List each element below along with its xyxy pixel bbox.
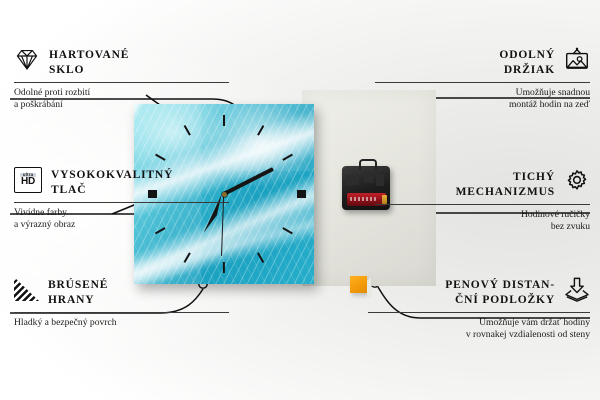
mechanism-hanger bbox=[359, 159, 377, 170]
clock-tick bbox=[297, 190, 306, 198]
feature-description: Hodinové ručičkybez zvuku bbox=[375, 209, 590, 233]
feature-title-line1: PENOVÝ DISTAN- bbox=[445, 279, 555, 291]
divider bbox=[375, 204, 590, 205]
feature-title: PENOVÝ DISTAN-ČNÍ PODLOŽKY bbox=[445, 278, 555, 307]
divider bbox=[14, 82, 229, 83]
feature-title-line1: BRÚSENÉ bbox=[48, 279, 108, 291]
picture-hanger-icon bbox=[564, 46, 590, 72]
feature-title-line2: ČNÍ PODLOŽKY bbox=[455, 294, 555, 306]
feature-header: ODOLNÝDRŽIAK bbox=[375, 48, 590, 77]
divider bbox=[368, 312, 590, 313]
feature-title: TICHÝMECHANIZMUS bbox=[456, 170, 555, 199]
divider bbox=[14, 312, 229, 313]
feature-header: HARTOVANÉSKLO bbox=[14, 48, 229, 77]
feature-brusene-hrany: BRÚSENÉHRANY Hladký a bezpečný povrch bbox=[14, 278, 229, 329]
feature-description: Hladký a bezpečný povrch bbox=[14, 317, 229, 329]
foam-spacer-pad bbox=[350, 276, 367, 293]
feature-header: BRÚSENÉHRANY bbox=[14, 278, 229, 307]
feature-desc-line2: a poškrábání bbox=[14, 99, 63, 110]
feature-title-line1: VYSOKOKVALITNÝ bbox=[51, 169, 173, 181]
feature-desc-line1: Umožňuje snadnou bbox=[516, 87, 590, 98]
battery-label bbox=[350, 197, 376, 201]
feature-hartovane-sklo: HARTOVANÉSKLO Odolné proti rozbitía pošk… bbox=[14, 48, 229, 111]
diagonal-stripes-icon bbox=[14, 277, 39, 301]
gear-icon bbox=[564, 168, 590, 194]
feature-desc-line2: montáž hodin na zeď bbox=[509, 99, 590, 110]
product-infographic: HARTOVANÉSKLO Odolné proti rozbitía pošk… bbox=[0, 0, 600, 400]
feature-title: ODOLNÝDRŽIAK bbox=[499, 48, 555, 77]
foam-spacer-icon bbox=[564, 276, 590, 302]
mechanism-slot bbox=[364, 175, 373, 183]
feature-odolny-drziak: ODOLNÝDRŽIAK Umožňuje snadnoumontáž hodi… bbox=[375, 48, 590, 111]
feature-desc-line1: Hladký a bezpečný povrch bbox=[14, 317, 117, 328]
feature-title-line2: SKLO bbox=[49, 64, 84, 76]
feature-description: Umožňuje snadnoumontáž hodin na zeď bbox=[375, 87, 590, 111]
feature-desc-line1: Umožňuje vám držať hodiny bbox=[479, 317, 590, 328]
feature-title-line2: TLAČ bbox=[51, 184, 86, 196]
ultra-hd-bottom-label: HD bbox=[21, 177, 35, 187]
diamond-icon bbox=[14, 46, 40, 72]
feature-desc-line1: Vivídne farby bbox=[14, 207, 67, 218]
feature-desc-line2: bez zvuku bbox=[551, 221, 590, 232]
feature-title-line2: MECHANIZMUS bbox=[456, 186, 555, 198]
feature-title-line1: ODOLNÝ bbox=[499, 49, 555, 61]
feature-title-line2: HRANY bbox=[48, 294, 94, 306]
feature-desc-line1: Hodinové ručičky bbox=[521, 209, 590, 220]
feature-header: PENOVÝ DISTAN-ČNÍ PODLOŽKY bbox=[368, 278, 590, 307]
mechanism-slot bbox=[346, 175, 359, 185]
feature-tichy-mechanizmus: TICHÝMECHANIZMUS Hodinové ručičkybez zvu… bbox=[375, 170, 590, 233]
feature-description: Vivídne farbya výrazný obraz bbox=[14, 207, 229, 231]
ultra-hd-badge-icon: ultra HD bbox=[14, 167, 42, 193]
feature-header: TICHÝMECHANIZMUS bbox=[375, 170, 590, 199]
feature-title-line1: TICHÝ bbox=[513, 171, 555, 183]
feature-title-line1: HARTOVANÉ bbox=[49, 49, 129, 61]
feature-title: BRÚSENÉHRANY bbox=[48, 278, 108, 307]
feature-description: Odolné proti rozbitía poškrábání bbox=[14, 87, 229, 111]
feature-title: VYSOKOKVALITNÝTLAČ bbox=[51, 168, 173, 197]
feature-desc-line2: a výrazný obraz bbox=[14, 219, 75, 230]
divider bbox=[375, 82, 590, 83]
divider bbox=[14, 202, 229, 203]
feature-penove-podlozky: PENOVÝ DISTAN-ČNÍ PODLOŽKY Umožňuje vám … bbox=[368, 278, 590, 341]
feature-description: Umožňuje vám držať hodinyv rovnakej vzdi… bbox=[368, 317, 590, 341]
feature-title: HARTOVANÉSKLO bbox=[49, 48, 129, 77]
clock-tick bbox=[223, 115, 225, 126]
feature-desc-line2: v rovnakej vzdialenosti od steny bbox=[466, 329, 590, 340]
feature-desc-line1: Odolné proti rozbití bbox=[14, 87, 90, 98]
feature-header: ultra HD VYSOKOKVALITNÝTLAČ bbox=[14, 168, 229, 197]
feature-title-line2: DRŽIAK bbox=[504, 64, 555, 76]
feature-vysokokvalitny-tlac: ultra HD VYSOKOKVALITNÝTLAČ Vivídne farb… bbox=[14, 168, 229, 231]
clock-tick bbox=[223, 262, 225, 273]
